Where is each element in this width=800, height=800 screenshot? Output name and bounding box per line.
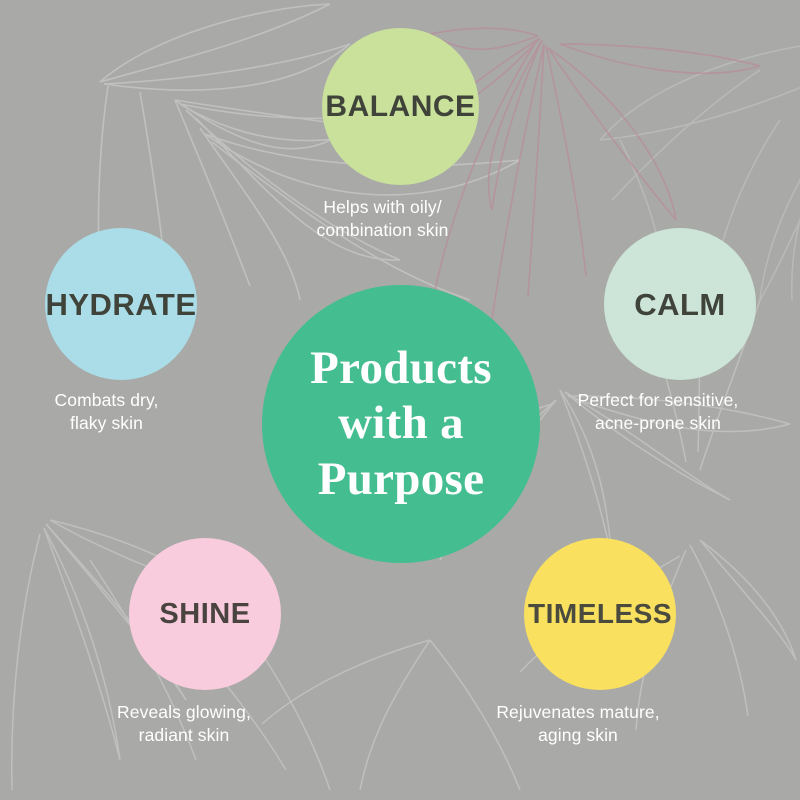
hydrate-label: HYDRATE (45, 289, 196, 320)
bubble-node-calm: CALM Perfect for sensitive, acne-prone s… (604, 228, 756, 435)
center-node: Products with a Purpose (262, 285, 540, 563)
calm-label: CALM (634, 289, 726, 320)
shine-caption: Reveals glowing, radiant skin (66, 701, 302, 747)
infographic-canvas: Products with a Purpose BALANCE Helps wi… (0, 0, 800, 800)
center-title: Products with a Purpose (310, 341, 492, 507)
shine-bubble[interactable]: SHINE (129, 538, 281, 690)
balance-bubble[interactable]: BALANCE (322, 28, 479, 185)
timeless-caption: Rejuvenates mature, aging skin (458, 701, 698, 747)
center-bubble[interactable]: Products with a Purpose (262, 285, 540, 563)
balance-label: BALANCE (325, 92, 475, 122)
timeless-label: TIMELESS (528, 600, 672, 628)
calm-caption: Perfect for sensitive, acne-prone skin (538, 389, 778, 435)
timeless-bubble[interactable]: TIMELESS (524, 538, 676, 690)
calm-bubble[interactable]: CALM (604, 228, 756, 380)
shine-label: SHINE (159, 600, 250, 629)
hydrate-bubble[interactable]: HYDRATE (45, 228, 197, 380)
bubble-node-hydrate: HYDRATE Combats dry, flaky skin (45, 228, 197, 435)
balance-caption: Helps with oily/ combination skin (268, 196, 498, 242)
bubble-node-balance: BALANCE Helps with oily/ combination ski… (322, 28, 479, 242)
hydrate-caption: Combats dry, flaky skin (2, 389, 212, 435)
bubble-node-shine: SHINE Reveals glowing, radiant skin (129, 538, 281, 747)
bubble-node-timeless: TIMELESS Rejuvenates mature, aging skin (524, 538, 676, 747)
